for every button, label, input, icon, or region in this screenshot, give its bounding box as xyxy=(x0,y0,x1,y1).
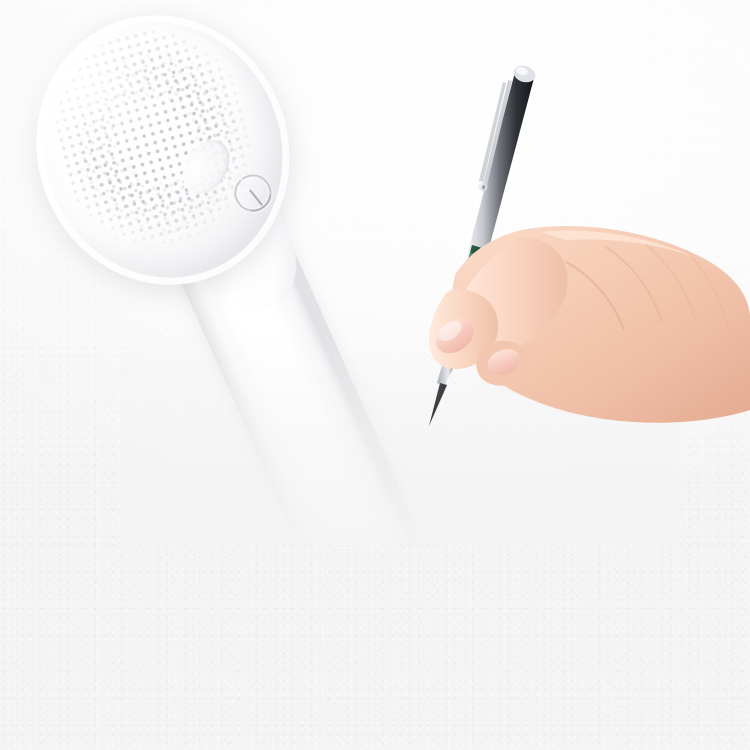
hand-and-pen xyxy=(0,0,750,545)
caption-block: Ergonomically unique design Minimize peo… xyxy=(0,545,750,750)
hand-pen-illustration xyxy=(0,0,750,545)
product-photo xyxy=(0,0,750,545)
hand xyxy=(429,226,750,423)
product-banner: Ergonomically unique design Minimize peo… xyxy=(0,0,750,750)
